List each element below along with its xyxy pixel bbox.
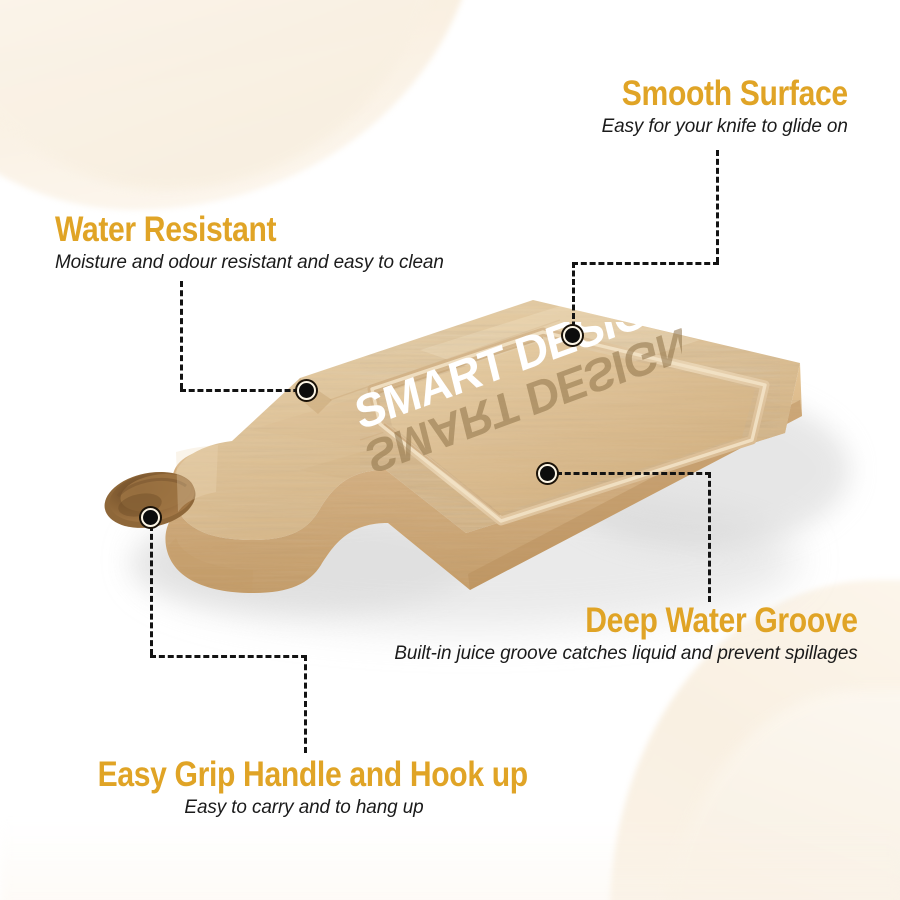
infographic-canvas: SMART DESIGN SMART DESIGN Smooth Surface… [0, 0, 900, 900]
leader-easy-grip-handle-segment-3 [304, 655, 307, 753]
dot-smooth-surface [563, 326, 582, 345]
leader-smooth-surface-segment-2 [572, 262, 719, 265]
callout-deep-water-groove-headline: Deep Water Groove [447, 603, 858, 638]
leader-water-resistant-segment-2 [180, 389, 308, 392]
background-wood-highlight-bottom-right [660, 690, 900, 900]
leader-smooth-surface-segment-3 [572, 262, 575, 336]
smart-design-reflection-text: SMART DESIGN [361, 322, 682, 485]
leader-deep-water-groove-segment-2 [708, 472, 711, 602]
callout-smooth-surface-headline: Smooth Surface [622, 76, 848, 111]
callout-smooth-surface: Smooth Surface Easy for your knife to gl… [585, 76, 848, 137]
leader-smooth-surface-segment-1 [716, 150, 719, 263]
dot-deep-water-groove [538, 464, 557, 483]
callout-water-resistant: Water Resistant Moisture and odour resis… [55, 212, 456, 273]
leader-water-resistant-segment-1 [180, 281, 183, 389]
callout-easy-grip-handle-headline: Easy Grip Handle and Hook up [98, 757, 511, 792]
leader-easy-grip-handle-segment-2 [150, 655, 307, 658]
callout-smooth-surface-subline: Easy for your knife to glide on [593, 115, 848, 137]
callout-deep-water-groove-subline: Built-in juice groove catches liquid and… [395, 642, 858, 664]
dot-water-resistant [297, 381, 316, 400]
background-wood-highlight-top-left [0, 0, 440, 190]
smart-design-main-text: SMART DESIGN [352, 322, 682, 440]
background-wood-shape-top-left [0, 0, 480, 210]
callout-water-resistant-subline: Moisture and odour resistant and easy to… [55, 251, 444, 273]
smart-design-overlay: SMART DESIGN SMART DESIGN [352, 322, 682, 512]
background-wood-strip-bottom [0, 820, 900, 900]
leader-deep-water-groove-segment-1 [556, 472, 711, 475]
callout-deep-water-groove: Deep Water Groove Built-in juice groove … [380, 603, 858, 664]
callout-easy-grip-handle: Easy Grip Handle and Hook up Easy to car… [64, 757, 544, 818]
dot-easy-grip-handle [141, 508, 160, 527]
leader-easy-grip-handle-segment-1 [150, 525, 153, 655]
smart-design-svg: SMART DESIGN SMART DESIGN [352, 322, 682, 512]
callout-water-resistant-headline: Water Resistant [55, 212, 400, 247]
callout-easy-grip-handle-subline: Easy to carry and to hang up [71, 796, 537, 818]
